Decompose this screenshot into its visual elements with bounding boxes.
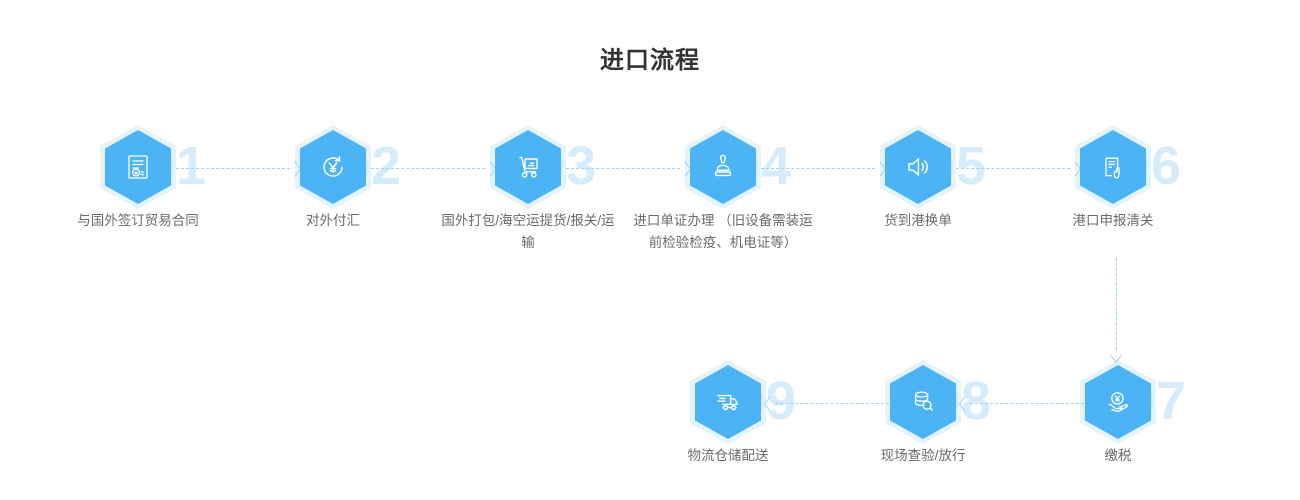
- hexagon-body: [695, 365, 761, 439]
- hand-truck-icon: [513, 152, 543, 182]
- step-badge: 04 进口单证办理 （旧设备需装运前检验检疫、机电证等）: [690, 130, 880, 204]
- step-label: 物流仓储配送: [635, 445, 821, 467]
- step-label: 现场查验/放行: [830, 445, 1016, 467]
- step-node-04[interactable]: 04 进口单证办理 （旧设备需装运前检验检疫、机电证等）: [690, 130, 880, 204]
- step-label: 货到港换单: [825, 210, 1011, 232]
- step-label: 国外打包/海空运提货/报关/运输: [435, 210, 621, 254]
- import-process-flowchart: 进口流程 01: [0, 0, 1300, 500]
- stamp-icon: [708, 152, 738, 182]
- step-hexagon: [885, 130, 951, 204]
- hexagon-body: [690, 130, 756, 204]
- hexagon-body: [1085, 365, 1151, 439]
- hexagon-body: [495, 130, 561, 204]
- contract-document-icon: [123, 152, 153, 182]
- step-badge: 08 现场查验/放行: [890, 365, 1080, 439]
- step-hexagon: [690, 130, 756, 204]
- step-hexagon: [1085, 365, 1151, 439]
- step-hexagon: [1080, 130, 1146, 204]
- step-node-08[interactable]: 08 现场查验/放行: [890, 365, 1080, 439]
- connector-06-to-07: [1110, 258, 1122, 360]
- step-node-03[interactable]: 03: [495, 130, 685, 204]
- hexagon-body: [300, 130, 366, 204]
- connector-dash-vertical: [1116, 258, 1117, 350]
- page-title: 进口流程: [0, 40, 1300, 75]
- step-node-02[interactable]: 02 对外付汇: [300, 130, 490, 204]
- step-node-05[interactable]: 05 货到港换单: [885, 130, 1075, 204]
- step-hexagon: [105, 130, 171, 204]
- database-search-icon: [908, 387, 938, 417]
- step-label: 与国外签订贸易合同: [45, 210, 231, 232]
- step-label: 港口申报清关: [1020, 210, 1206, 232]
- step-badge: 09: [695, 365, 885, 439]
- step-hexagon: [695, 365, 761, 439]
- step-hexagon: [890, 365, 956, 439]
- arrowhead-down-icon: [1111, 350, 1121, 360]
- step-node-09[interactable]: 09: [695, 365, 885, 439]
- step-node-01[interactable]: 01: [105, 130, 295, 204]
- step-label: 缴税: [1025, 445, 1211, 467]
- yuan-exchange-icon: [318, 152, 348, 182]
- delivery-truck-icon: [713, 387, 743, 417]
- speaker-announce-icon: [903, 152, 933, 182]
- step-hexagon: [300, 130, 366, 204]
- step-badge: 03: [495, 130, 685, 204]
- hexagon-body: [1080, 130, 1146, 204]
- step-badge: 07: [1085, 365, 1275, 439]
- step-badge: 02 对外付汇: [300, 130, 490, 204]
- hexagon-body: [890, 365, 956, 439]
- step-hexagon: [495, 130, 561, 204]
- step-label: 对外付汇: [240, 210, 426, 232]
- step-node-06[interactable]: 06 港口申报清关: [1080, 130, 1270, 204]
- step-node-07[interactable]: 07: [1085, 365, 1275, 439]
- hexagon-body: [885, 130, 951, 204]
- clipboard-hand-icon: [1098, 152, 1128, 182]
- step-badge: 06 港口申报清关: [1080, 130, 1270, 204]
- hexagon-body: [105, 130, 171, 204]
- hand-coin-icon: [1103, 387, 1133, 417]
- step-badge: 05 货到港换单: [885, 130, 1075, 204]
- step-badge: 01: [105, 130, 295, 204]
- step-label: 进口单证办理 （旧设备需装运前检验检疫、机电证等）: [630, 210, 816, 254]
